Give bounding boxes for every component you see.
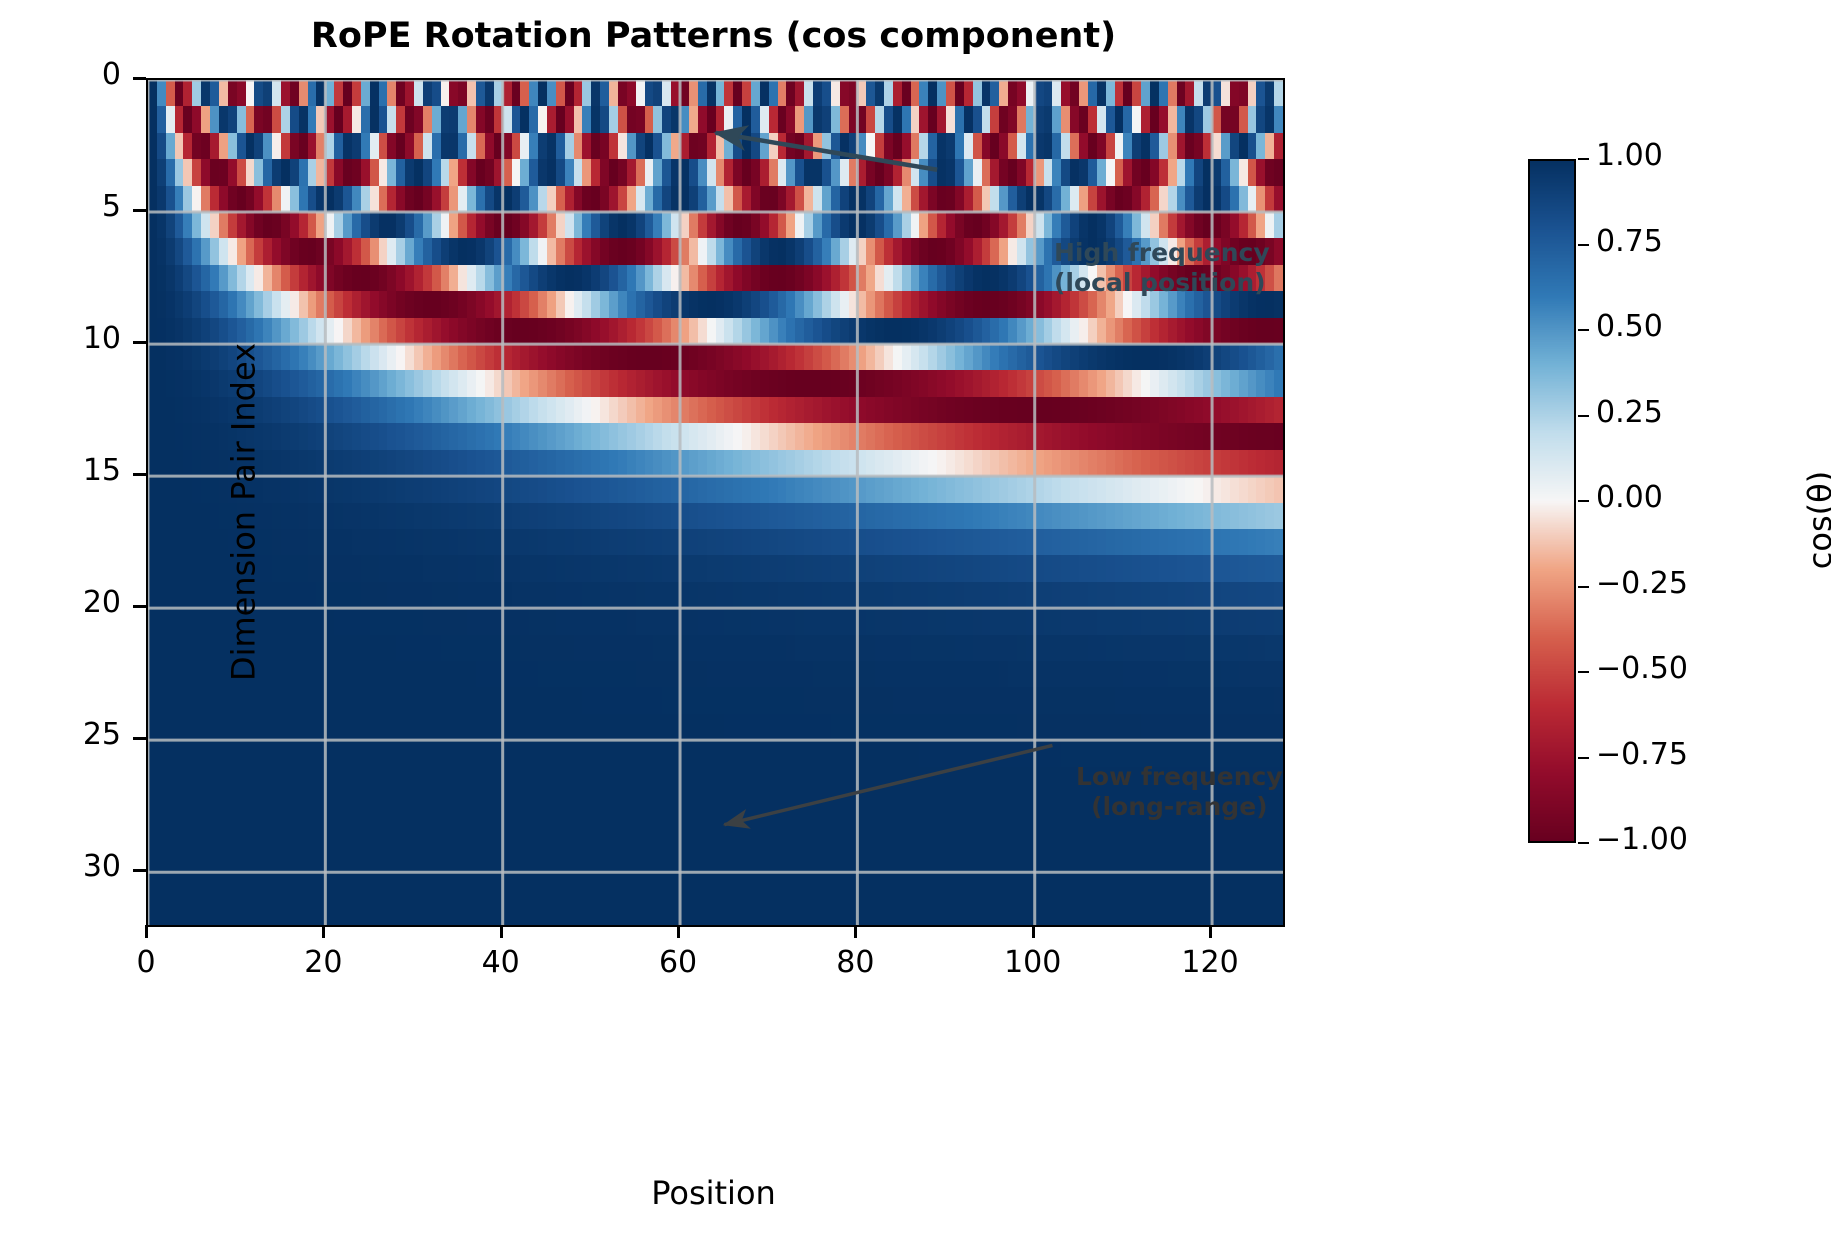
x-axis-label: Position xyxy=(146,1174,1281,1212)
colorbar-tick-mark xyxy=(1578,842,1589,844)
y-tick-mark xyxy=(133,737,146,740)
x-tick-label: 80 xyxy=(775,945,935,980)
colorbar-tick-label: 0.75 xyxy=(1596,224,1663,259)
x-tick-mark xyxy=(1209,925,1212,938)
x-tick-label: 20 xyxy=(243,945,403,980)
y-tick-label: 5 xyxy=(21,189,121,224)
colorbar-tick-mark xyxy=(1578,415,1589,417)
x-tick-mark xyxy=(854,925,857,938)
colorbar-tick-mark xyxy=(1578,329,1589,331)
x-tick-mark xyxy=(500,925,503,938)
chart-figure: RoPE Rotation Patterns (cos component) H… xyxy=(0,0,1831,1234)
x-tick-label: 100 xyxy=(953,945,1113,980)
x-tick-mark xyxy=(677,925,680,938)
colorbar-tick-mark xyxy=(1578,244,1589,246)
y-tick-label: 25 xyxy=(21,717,121,752)
y-tick-label: 10 xyxy=(21,321,121,356)
heatmap-plot-area[interactable]: High frequency (local position) Low freq… xyxy=(146,78,1285,927)
y-axis-label: Dimension Pair Index xyxy=(225,90,263,935)
y-tick-label: 0 xyxy=(21,57,121,92)
colorbar-tick-mark xyxy=(1578,500,1589,502)
x-tick-label: 120 xyxy=(1130,945,1290,980)
y-tick-mark xyxy=(133,473,146,476)
colorbar-tick-mark xyxy=(1578,757,1589,759)
y-tick-mark xyxy=(133,605,146,608)
x-tick-mark xyxy=(1032,925,1035,938)
x-tick-label: 40 xyxy=(421,945,581,980)
colorbar-tick-label: 0.50 xyxy=(1596,309,1663,344)
colorbar-tick-label: −1.00 xyxy=(1596,822,1688,857)
x-tick-mark xyxy=(322,925,325,938)
colorbar-label: cos(θ) xyxy=(1801,178,1831,862)
colorbar-tick-mark xyxy=(1578,158,1589,160)
x-tick-label: 0 xyxy=(66,945,226,980)
y-tick-mark xyxy=(133,77,146,80)
colorbar-tick-label: −0.50 xyxy=(1596,651,1688,686)
colorbar-tick-mark xyxy=(1578,671,1589,673)
colorbar[interactable] xyxy=(1528,159,1576,843)
y-tick-mark xyxy=(133,209,146,212)
colorbar-border xyxy=(1528,159,1576,843)
y-tick-label: 30 xyxy=(21,849,121,884)
y-tick-mark xyxy=(133,341,146,344)
colorbar-tick-label: 0.25 xyxy=(1596,395,1663,430)
colorbar-tick-label: −0.25 xyxy=(1596,566,1688,601)
colorbar-tick-label: 0.00 xyxy=(1596,480,1663,515)
heatmap-canvas xyxy=(148,80,1283,925)
y-tick-mark xyxy=(133,869,146,872)
x-tick-label: 60 xyxy=(598,945,758,980)
colorbar-tick-label: 1.00 xyxy=(1596,138,1663,173)
x-tick-mark xyxy=(145,925,148,938)
colorbar-tick-label: −0.75 xyxy=(1596,737,1688,772)
colorbar-tick-mark xyxy=(1578,586,1589,588)
y-tick-label: 20 xyxy=(21,585,121,620)
y-tick-label: 15 xyxy=(21,453,121,488)
chart-title: RoPE Rotation Patterns (cos component) xyxy=(146,16,1281,56)
